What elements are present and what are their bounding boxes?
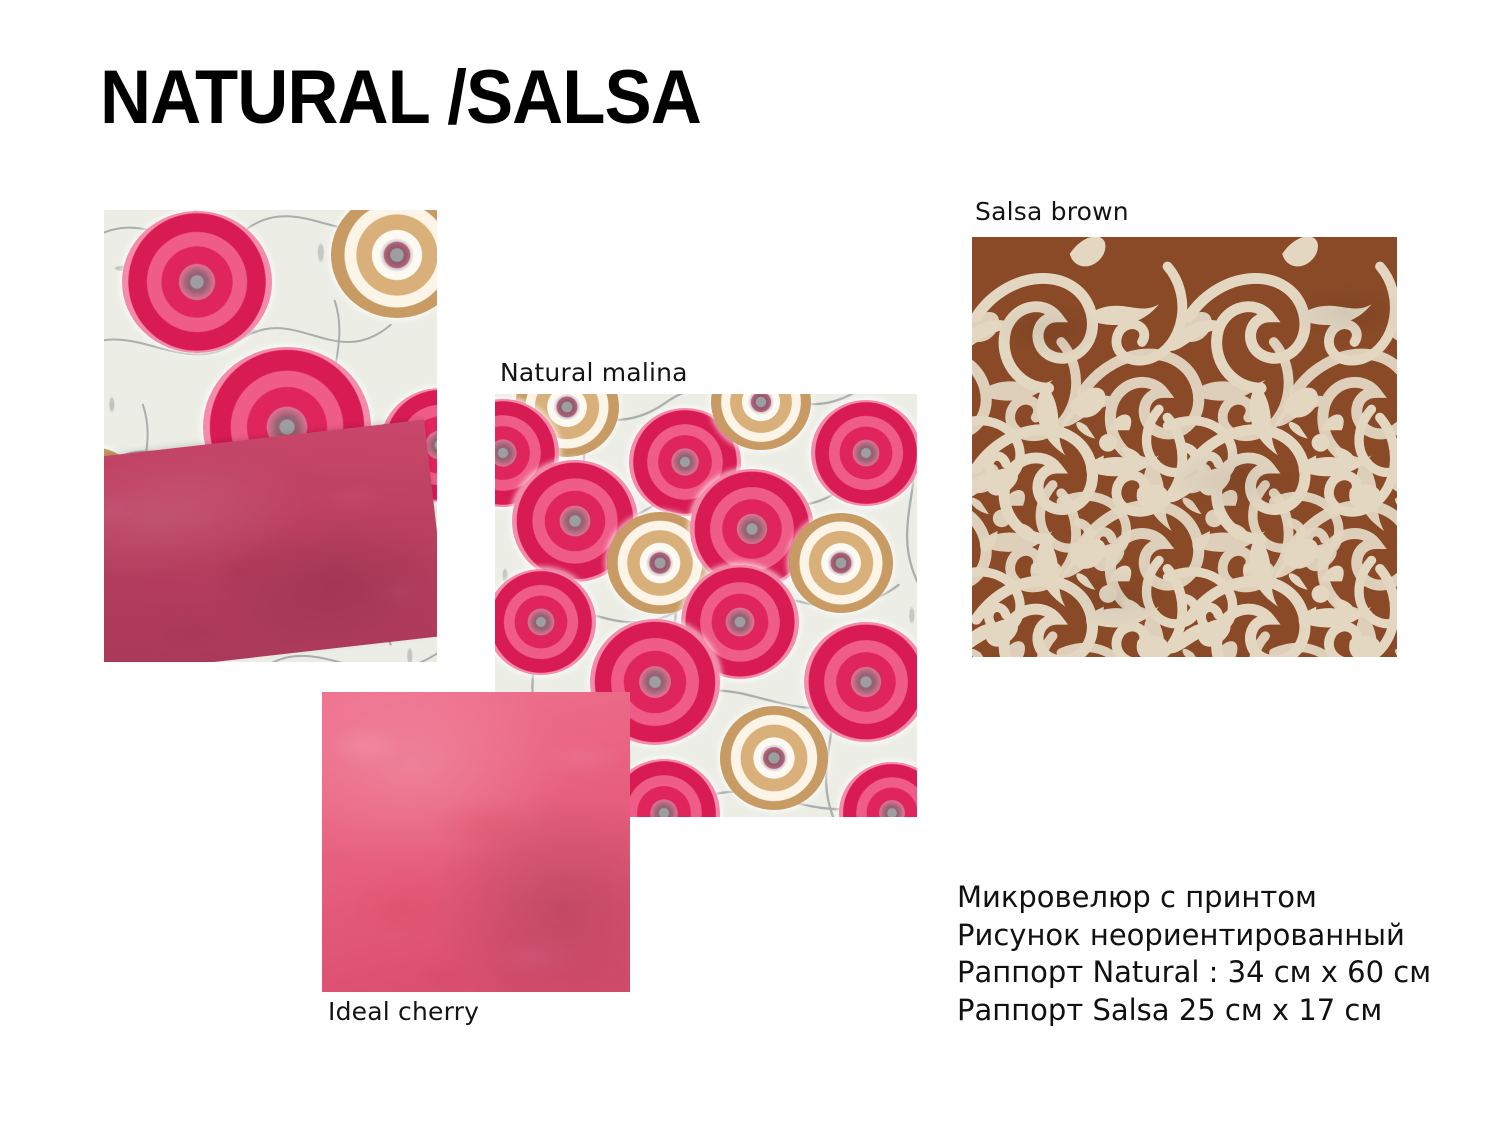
spec-line-material: Микровелюр с принтом [957,879,1431,917]
rose-motif-tan [789,513,893,613]
rose-center [748,394,774,415]
velour-fold-panel [104,419,437,662]
rose-center [553,394,580,420]
plain-velour-surface [322,692,630,992]
rose-center [759,744,787,771]
rose-center [559,505,592,537]
rose-center [878,800,906,817]
swatch-label-ideal-cherry: Ideal cherry [328,997,479,1026]
rose-center [495,439,518,467]
swatch-natural-folded-sample [104,210,437,662]
slide-canvas: NATURAL /SALSA [0,0,1500,1124]
specification-text: Микровелюр с принтом Рисунок неориентиро… [957,879,1431,1030]
rose-center [178,264,217,301]
spec-line-repeat-salsa: Раппорт Salsa 25 см x 17 см [957,992,1431,1030]
fabric-grain-texture [972,237,1397,657]
page-title: NATURAL /SALSA [100,58,701,138]
swatch-label-salsa-brown: Salsa brown [975,197,1129,226]
rose-center [850,666,882,697]
rose-center [649,799,678,817]
rose-center [724,608,755,638]
swatch-label-natural-malina: Natural malina [500,358,688,387]
rose-center [638,665,672,698]
swatch-ideal-cherry [322,692,630,992]
rose-center [828,550,855,576]
rose-center [527,609,556,637]
damask-print-surface [972,237,1397,657]
rose-center [646,550,674,577]
rose-center [380,239,414,272]
rose-center [852,439,881,467]
swatch-salsa-brown [972,237,1397,657]
rose-motif-tan [720,706,828,810]
rose-motif-red [804,622,917,742]
rose-motif-red [122,211,272,353]
rose-motif-red [811,400,917,506]
velour-grain-texture [104,419,437,662]
spec-line-orientation: Рисунок неориентированный [957,917,1431,955]
spec-line-repeat-natural: Раппорт Natural : 34 см x 60 см [957,954,1431,992]
rose-center [670,448,699,476]
rose-center [736,514,768,545]
